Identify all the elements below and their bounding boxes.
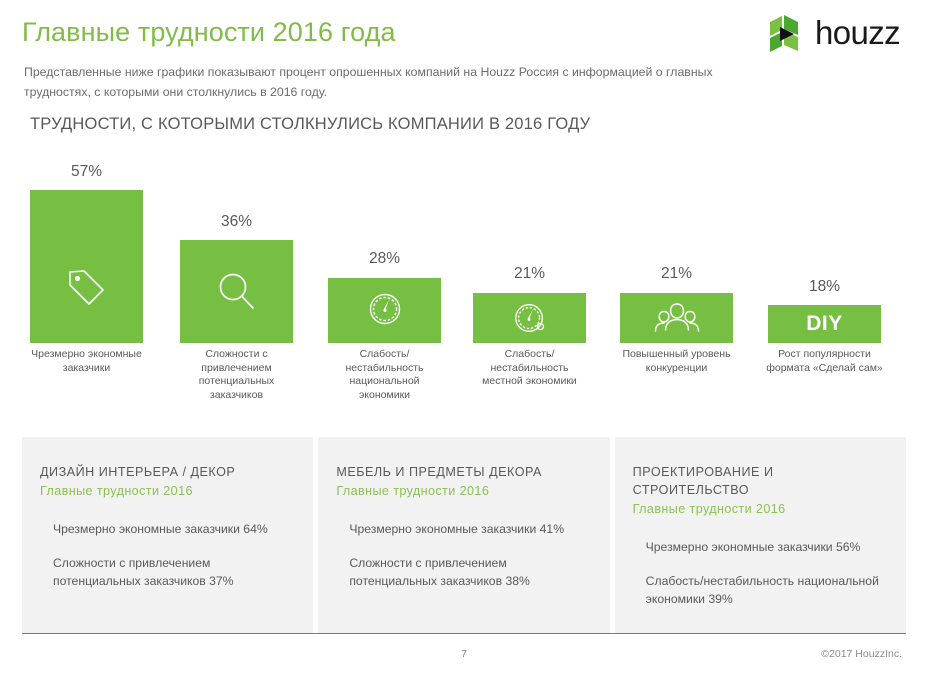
bar-group-5: 21% Повышенный уровень конкуренции xyxy=(620,150,733,420)
list-item: Чрезмерно экономные заказчики 64% xyxy=(53,520,295,538)
list-item: Сложности с привлечением потенциальных з… xyxy=(349,554,591,590)
bar-group-3: 28% Слабость/нестабильность национальной… xyxy=(328,150,441,420)
copyright-notice: ©2017 HouzzInc. xyxy=(821,648,902,660)
page-title: Главные трудности 2016 года xyxy=(22,17,396,48)
segment-panels: ДИЗАЙН ИНТЕРЬЕРА / ДЕКОР Главные труднос… xyxy=(22,437,906,633)
bar-group-1: 57% Чрезмерно экономные заказчики xyxy=(30,150,143,420)
bar-value-1: 57% xyxy=(30,163,143,181)
bar-caption-4: Слабость/нестабильность местной экономик… xyxy=(469,348,590,389)
bar-rect-3[interactable] xyxy=(328,278,441,343)
bar-chart: 57% Чрезмерно экономные заказчики 36% xyxy=(0,150,928,420)
bar-caption-6: Рост популярности формата «Сделай сам» xyxy=(764,348,885,375)
panel-title: МЕБЕЛЬ И ПРЕДМЕТЫ ДЕКОРА xyxy=(336,463,591,481)
houzz-wordmark: houzz xyxy=(815,16,900,53)
bar-group-4: 21% Слабость/нестабильность местной экон… xyxy=(473,150,586,420)
footer-divider xyxy=(22,633,906,634)
panel-item-list: Чрезмерно экономные заказчики 56% Слабос… xyxy=(633,538,888,608)
panel-item-list: Чрезмерно экономные заказчики 41% Сложно… xyxy=(336,520,591,590)
bar-caption-2: Сложности с привлечением потенциальных з… xyxy=(176,348,297,402)
chart-title: ТРУДНОСТИ, С КОТОРЫМИ СТОЛКНУЛИСЬ КОМПАН… xyxy=(30,115,590,134)
panel-subtitle: Главные трудности 2016 xyxy=(40,482,295,501)
bar-caption-5: Повышенный уровень конкуренции xyxy=(616,348,737,375)
list-item: Чрезмерно экономные заказчики 41% xyxy=(349,520,591,538)
bar-value-5: 21% xyxy=(620,265,733,283)
bar-rect-1[interactable] xyxy=(30,190,143,343)
panel-title: ДИЗАЙН ИНТЕРЬЕРА / ДЕКОР xyxy=(40,463,295,481)
page-number: 7 xyxy=(0,648,928,660)
bar-icon-2 xyxy=(180,269,293,315)
houzz-logo: houzz xyxy=(768,14,900,54)
bar-value-2: 36% xyxy=(180,213,293,231)
bar-icon-6: DIY xyxy=(768,313,881,334)
bar-value-3: 28% xyxy=(328,250,441,268)
houzz-diamond-icon xyxy=(768,14,806,54)
list-item: Слабость/нестабильность национальной эко… xyxy=(646,572,888,608)
panel-title: ПРОЕКТИРОВАНИЕ И СТРОИТЕЛЬСТВО xyxy=(633,463,888,499)
bar-value-4: 21% xyxy=(473,265,586,283)
panel-subtitle: Главные трудности 2016 xyxy=(336,482,591,501)
panel-subtitle: Главные трудности 2016 xyxy=(633,500,888,519)
bar-rect-4[interactable] xyxy=(473,293,586,343)
bar-caption-1: Чрезмерно экономные заказчики xyxy=(26,348,147,375)
bar-caption-3: Слабость/нестабильность национальной эко… xyxy=(324,348,445,402)
bar-group-6: 18% DIY Рост популярности формата «Сдела… xyxy=(768,150,881,420)
bar-rect-2[interactable] xyxy=(180,240,293,343)
list-item: Чрезмерно экономные заказчики 56% xyxy=(646,538,888,556)
bar-icon-1 xyxy=(30,263,143,309)
intro-paragraph: Представленные ниже графики показывают п… xyxy=(24,62,724,102)
list-item: Сложности с привлечением потенциальных з… xyxy=(53,554,295,590)
panel-item-list: Чрезмерно экономные заказчики 64% Сложно… xyxy=(40,520,295,590)
bar-group-2: 36% Сложности с привлечением потенциальн… xyxy=(180,150,293,420)
bar-value-6: 18% xyxy=(768,278,881,296)
panel-design-construction: ПРОЕКТИРОВАНИЕ И СТРОИТЕЛЬСТВО Главные т… xyxy=(615,437,906,633)
bar-rect-6[interactable]: DIY xyxy=(768,305,881,343)
panel-interior-design: ДИЗАЙН ИНТЕРЬЕРА / ДЕКОР Главные труднос… xyxy=(22,437,313,633)
bar-icon-5 xyxy=(620,301,733,335)
bar-icon-3 xyxy=(328,289,441,329)
diy-label: DIY xyxy=(806,313,843,334)
bar-rect-5[interactable] xyxy=(620,293,733,343)
panel-furniture-decor: МЕБЕЛЬ И ПРЕДМЕТЫ ДЕКОРА Главные труднос… xyxy=(318,437,609,633)
bar-icon-4 xyxy=(473,299,586,337)
